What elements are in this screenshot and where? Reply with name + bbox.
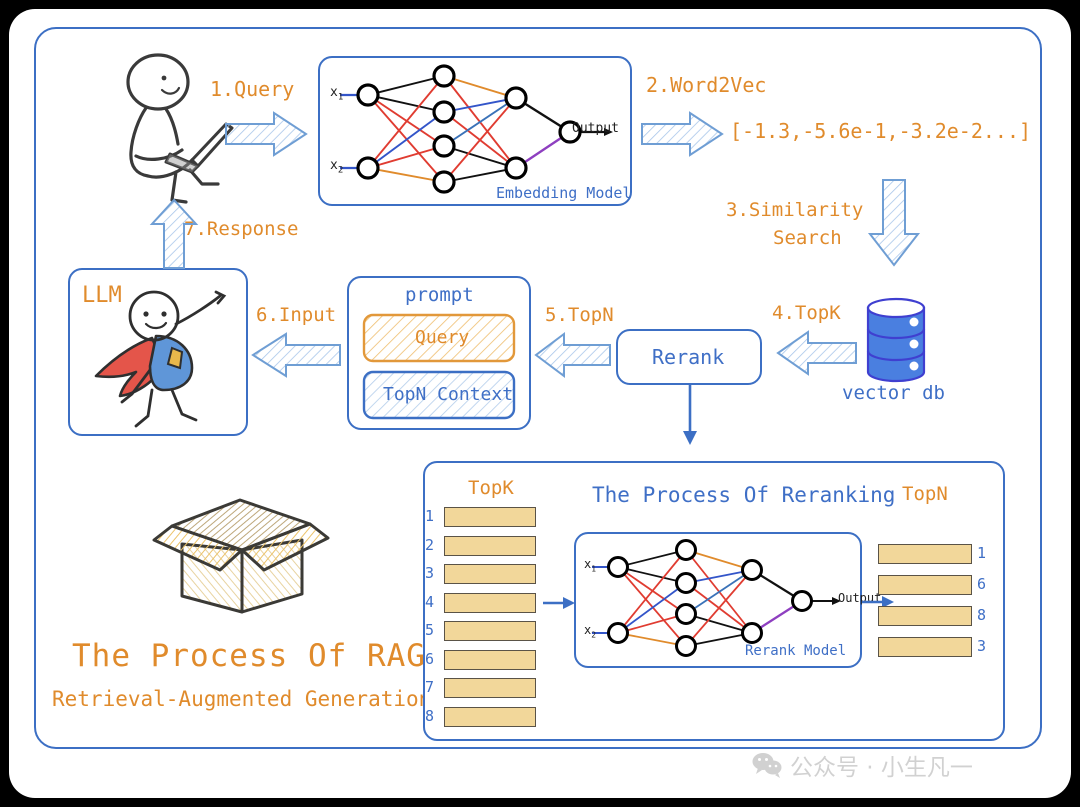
topn-bar [878, 544, 972, 564]
topn-item[interactable]: 1 [878, 542, 988, 573]
reranking-topn-label: TopN [902, 484, 948, 506]
rerank-box-label: Rerank [652, 346, 724, 369]
arrow-topk-left-icon [776, 330, 858, 376]
rerank-model-caption: Rerank Model [745, 643, 846, 659]
topn-index: 1 [977, 545, 986, 562]
topk-item[interactable]: 7 [425, 677, 540, 706]
wechat-icon [752, 752, 782, 778]
prompt-title: prompt [405, 285, 474, 307]
topk-index: 2 [425, 537, 434, 554]
prompt-context-label: TopN Context [383, 385, 513, 406]
rerank-x1-label: x1 [584, 558, 596, 574]
arrow-query-right-icon [224, 110, 310, 158]
topn-item[interactable]: 8 [878, 604, 988, 635]
reranking-panel-title: The Process Of Reranking [592, 483, 895, 507]
diagram-canvas: 1.Query [0, 0, 1080, 807]
arrow-word2vec-right-icon [640, 110, 726, 158]
topk-item[interactable]: 4 [425, 592, 540, 621]
reranking-topk-label: TopK [468, 478, 514, 500]
topk-bar [444, 650, 536, 670]
topk-bar [444, 621, 536, 641]
arrow-topn-left-icon [534, 332, 612, 378]
embedding-output-label: Output [572, 122, 619, 137]
label-step6-input: 6.Input [256, 305, 336, 327]
topn-index: 6 [977, 576, 986, 593]
topn-item[interactable]: 3 [878, 635, 988, 666]
watermark-text: 公众号 · 小生凡一 [790, 748, 973, 782]
topn-bar [878, 606, 972, 626]
topk-bar [444, 707, 536, 727]
topk-list: 1 2 3 4 5 6 7 8 [425, 506, 540, 734]
page-subtitle: Retrieval-Augmented Generation [52, 687, 431, 711]
topk-item[interactable]: 6 [425, 649, 540, 678]
embedding-model-caption: Embedding Model [496, 185, 631, 202]
topn-bar [878, 575, 972, 595]
open-carton-box-icon [142, 484, 342, 624]
topk-index: 1 [425, 508, 434, 525]
embedding-vector-text: [-1.3,-5.6e-1,-3.2e-2...] [730, 120, 1031, 143]
topk-index: 8 [425, 708, 434, 725]
arrow-topk-to-model-icon [543, 593, 577, 613]
llm-superhero-icon [92, 290, 242, 432]
topk-item[interactable]: 2 [425, 535, 540, 564]
arrow-response-up-icon [148, 198, 202, 270]
label-step1-query: 1.Query [210, 78, 294, 101]
label-step5-topn: 5.TopN [545, 305, 614, 327]
topk-bar [444, 593, 536, 613]
topn-index: 8 [977, 607, 986, 624]
arrow-input-left-icon [250, 331, 342, 379]
embedding-x2-label: x2 [330, 159, 343, 176]
topk-item[interactable]: 3 [425, 563, 540, 592]
vector-db-icon [858, 296, 944, 388]
label-step3-line1: 3.Similarity [726, 200, 863, 222]
watermark: 公众号 · 小生凡一 [752, 748, 973, 782]
vector-db-label: vector db [842, 383, 945, 405]
topk-index: 6 [425, 651, 434, 668]
topk-index: 7 [425, 679, 434, 696]
topn-list: 1 6 8 3 [878, 542, 988, 666]
topk-index: 3 [425, 565, 434, 582]
label-step3-line2: Search [773, 228, 842, 250]
arrow-similarity-down-icon [866, 178, 922, 268]
person-with-laptop-icon [106, 52, 236, 212]
embedding-x1-label: x1 [330, 86, 343, 103]
arrow-rerank-down-icon [676, 385, 706, 447]
label-step2-word2vec: 2.Word2Vec [646, 74, 766, 97]
topk-item[interactable]: 8 [425, 706, 540, 735]
topn-bar [878, 637, 972, 657]
topk-index: 4 [425, 594, 434, 611]
prompt-query-label: Query [415, 328, 469, 349]
label-step4-topk: 4.TopK [772, 303, 841, 325]
topk-bar [444, 507, 536, 527]
topk-index: 5 [425, 622, 434, 639]
rerank-x2-label: x2 [584, 624, 596, 640]
topk-bar [444, 536, 536, 556]
topk-item[interactable]: 1 [425, 506, 540, 535]
topk-item[interactable]: 5 [425, 620, 540, 649]
topk-bar [444, 564, 536, 584]
topk-bar [444, 678, 536, 698]
topn-index: 3 [977, 638, 986, 655]
topn-item[interactable]: 6 [878, 573, 988, 604]
page-title: The Process Of RAG [72, 639, 426, 675]
